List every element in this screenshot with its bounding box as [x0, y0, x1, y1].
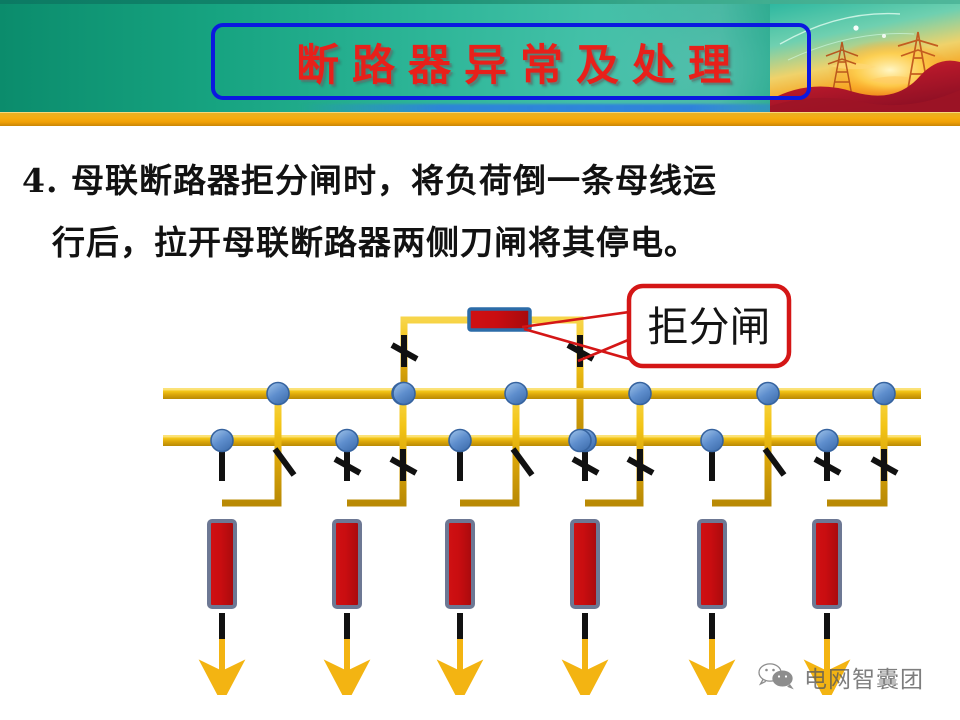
- bus2-node-2[interactable]: [336, 430, 358, 452]
- bus1-node-5[interactable]: [757, 383, 779, 405]
- callout-label: 拒分闸: [648, 303, 771, 351]
- bus-tie-bay: [392, 309, 593, 443]
- feeder-3-breaker[interactable]: [447, 521, 473, 607]
- feeder-2-breaker[interactable]: [334, 521, 360, 607]
- bus1-node-1[interactable]: [267, 383, 289, 405]
- tie-disconnector-right[interactable]: [568, 335, 593, 367]
- header-title-box: 断路器异常及处理: [211, 23, 811, 100]
- tie-node-2[interactable]: [569, 430, 591, 452]
- bus1-node-4[interactable]: [629, 383, 651, 405]
- header-gold-bar: [0, 112, 960, 126]
- page-title: 断路器异常及处理: [215, 27, 815, 96]
- bus2-node-3[interactable]: [449, 430, 471, 452]
- body-text: 4. 母联断路器拒分闸时，将负荷倒一条母线运 行后，拉开母联断路器两侧刀闸将其停…: [22, 150, 932, 274]
- watermark: 电网智囊团: [756, 655, 956, 699]
- slide-header: 断路器异常及处理: [0, 0, 960, 126]
- tie-node-1[interactable]: [393, 383, 415, 405]
- feeder-4-breaker[interactable]: [572, 521, 598, 607]
- feeder-2-disconnector-bus1[interactable]: [391, 449, 416, 481]
- feeder-6-disconnector-bus1[interactable]: [872, 449, 897, 481]
- callout-refuse-to-open: 拒分闸: [522, 286, 789, 366]
- tie-disconnector-left[interactable]: [392, 335, 417, 367]
- slide: 断路器异常及处理 4. 母联断路器拒分闸时，将负荷倒一条母线运 行后，拉开母联断…: [0, 0, 960, 720]
- feeder-6-breaker[interactable]: [814, 521, 840, 607]
- feeder-5-breaker[interactable]: [699, 521, 725, 607]
- bus2-node-5[interactable]: [701, 430, 723, 452]
- substation-diagram: 拒分闸: [0, 275, 960, 695]
- bus1-node-3[interactable]: [505, 383, 527, 405]
- bus1-node-6[interactable]: [873, 383, 895, 405]
- feeder-2-disconnector-bus2[interactable]: [335, 449, 360, 481]
- bus2-node-1[interactable]: [211, 430, 233, 452]
- body-line-2: 行后，拉开母联断路器两侧刀闸将其停电。: [22, 212, 932, 274]
- feeder-1-breaker[interactable]: [209, 521, 235, 607]
- feeder-6-disconnector-bus2[interactable]: [815, 449, 840, 481]
- body-line-1: 4. 母联断路器拒分闸时，将负荷倒一条母线运: [22, 150, 932, 212]
- feeder-4-disconnector-bus2[interactable]: [573, 449, 598, 481]
- watermark-label: 电网智囊团: [804, 660, 924, 694]
- bus2-node-6[interactable]: [816, 430, 838, 452]
- feeder-4-disconnector-bus1[interactable]: [628, 449, 653, 481]
- wechat-icon: [756, 660, 796, 694]
- bus-tie-breaker[interactable]: [469, 309, 530, 330]
